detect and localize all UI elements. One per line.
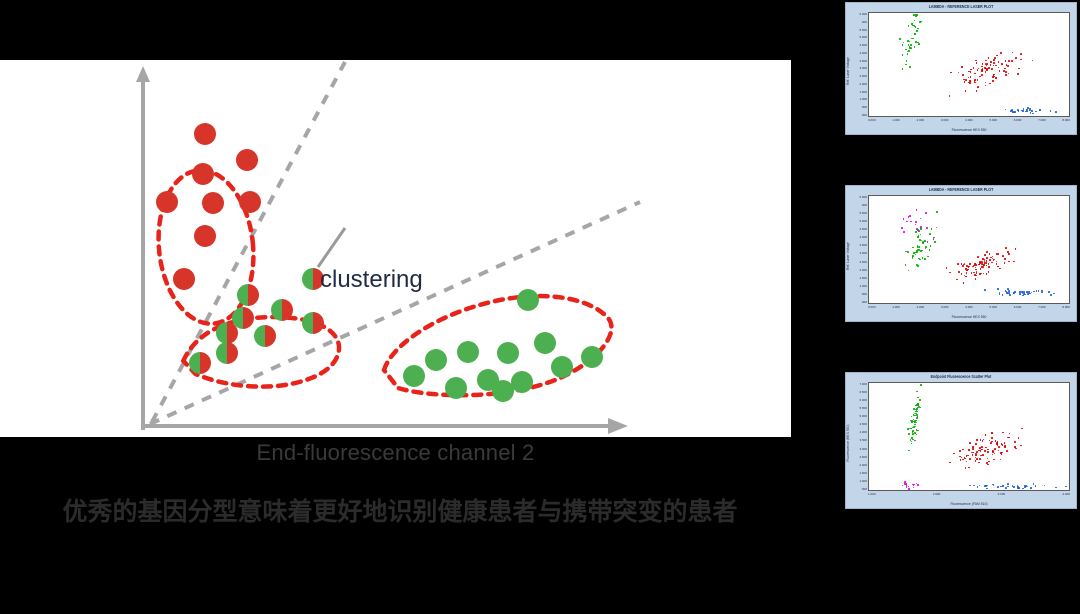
thumbnail-data-point: [1008, 60, 1010, 62]
thumbnail-data-point: [1004, 446, 1006, 448]
thumbnail-data-point: [925, 248, 927, 250]
thumbnail-data-point: [917, 265, 919, 267]
thumbnail-data-point: [1035, 485, 1037, 487]
thumbnail-data-point: [907, 251, 909, 253]
thumbnail-data-point: [975, 278, 977, 280]
thumbnail-data-point: [966, 461, 968, 463]
tick-label: 1.000: [868, 492, 876, 498]
thumbnail-data-point: [1005, 71, 1007, 73]
thumbnail-data-point: [1002, 255, 1004, 257]
thumbnail-data-point: [949, 95, 951, 97]
tick-label: 4.500: [859, 43, 867, 47]
thumbnail-data-point: [927, 256, 929, 258]
tick-label: 7.000: [859, 382, 867, 386]
data-point: [236, 149, 258, 171]
thumbnail-data-point: [984, 289, 986, 291]
data-point: [492, 380, 514, 402]
thumbnail-data-point: [971, 272, 973, 274]
clustering-annotation-label: clustering: [320, 266, 423, 294]
thumbnail-data-point: [905, 64, 907, 66]
thumbnail-y-axis-label: Ref. Laser Voltage: [846, 242, 850, 270]
thumbnail-data-point: [991, 432, 993, 434]
thumbnail-data-point: [982, 440, 984, 442]
tick-label: 1.000: [859, 97, 867, 101]
thumbnail-data-point: [977, 256, 979, 258]
thumbnail-data-point: [967, 269, 969, 271]
data-point: [216, 322, 238, 344]
tick-label: 8.000: [1062, 118, 1070, 124]
tick-label: 5.500: [859, 28, 867, 32]
thumbnail-data-point: [986, 69, 988, 71]
thumbnail-data-point: [993, 459, 995, 461]
thumbnail-data-point: [999, 293, 1001, 295]
thumbnail-data-point: [993, 485, 995, 487]
thumbnail-data-point: [969, 485, 971, 487]
thumbnail-data-point: [963, 282, 965, 284]
tick-label: 3.000: [998, 492, 1006, 498]
tick-label: 6.000: [859, 398, 867, 402]
data-point: [497, 342, 519, 364]
thumbnail-data-point: [912, 430, 914, 432]
thumbnail-data-point: [965, 276, 967, 278]
thumbnail-data-point: [969, 442, 971, 444]
thumbnail-data-point: [1031, 110, 1033, 112]
thumbnail-data-point: [1009, 433, 1011, 435]
thumbnail-data-point: [984, 67, 986, 69]
thumbnail-data-point: [933, 238, 935, 240]
thumbnail-lambda-reference-laser-plot-2[interactable]: LAMBDA - REFERENCE LASER PLOT Ref. Laser…: [845, 185, 1077, 322]
thumbnail-data-point: [968, 449, 970, 451]
tick-label: 3.500: [859, 438, 867, 442]
thumbnail-data-point: [962, 459, 964, 461]
thumbnail-data-point: [913, 487, 915, 489]
thumbnail-data-point: [919, 399, 921, 401]
tick-label: 2.500: [859, 74, 867, 78]
thumbnail-data-point: [913, 408, 915, 410]
thumbnail-data-point: [996, 263, 998, 265]
thumbnail-data-point: [988, 57, 990, 59]
thumbnail-data-point: [1012, 52, 1014, 54]
thumbnail-data-point: [1009, 292, 1011, 294]
thumbnail-data-point: [980, 268, 982, 270]
thumbnail-data-point: [1032, 60, 1034, 62]
thumbnail-data-point: [972, 452, 974, 454]
thumbnail-data-point: [906, 60, 908, 62]
thumbnail-data-point: [974, 73, 976, 75]
tick-label: 4.500: [859, 422, 867, 426]
thumbnail-data-point: [1031, 292, 1033, 294]
thumbnail-data-point: [912, 38, 914, 40]
thumbnail-data-point: [986, 257, 988, 259]
data-point: [445, 377, 467, 399]
data-point: [534, 332, 556, 354]
thumbnail-data-point: [914, 20, 916, 22]
thumbnail-data-point: [964, 81, 966, 83]
thumbnail-data-point: [962, 265, 964, 267]
thumbnail-data-point: [930, 245, 932, 247]
thumbnail-data-point: [911, 23, 913, 25]
thumbnail-data-point: [1005, 290, 1007, 292]
thumbnail-data-point: [976, 451, 978, 453]
data-point: [202, 192, 224, 214]
thumbnail-data-point: [1022, 110, 1024, 112]
thumbnail-title: LAMBDA - REFERENCE LASER PLOT: [846, 188, 1076, 193]
thumbnail-data-point: [1055, 111, 1057, 113]
tick-label: 6.500: [859, 390, 867, 394]
thumbnail-data-point: [994, 57, 996, 59]
thumbnail-data-point: [1007, 483, 1009, 485]
tick-label: .500: [861, 292, 867, 296]
tick-label: 2.000: [859, 268, 867, 272]
tick-label: 7.000: [1038, 118, 1046, 124]
thumbnail-data-point: [909, 66, 911, 68]
upper-separator-line: [152, 62, 345, 422]
thumbnail-data-point: [918, 235, 920, 237]
thumbnail-data-point: [963, 264, 965, 266]
thumbnail-data-point: [986, 273, 988, 275]
data-point: [551, 356, 573, 378]
data-point: [216, 342, 238, 364]
data-point: [302, 312, 324, 334]
thumbnail-data-point: [961, 273, 963, 275]
tick-label: 1.500: [859, 90, 867, 94]
thumbnail-data-point: [905, 264, 907, 266]
thumbnail-data-point: [972, 446, 974, 448]
thumbnail-data-point: [989, 253, 991, 255]
thumbnail-data-point: [906, 221, 908, 223]
slide-subtitle-chinese: 优秀的基因分型意味着更好地识别健康患者与携带突变的患者: [0, 492, 800, 528]
thumbnail-title: LAMBDA - REFERENCE LASER PLOT: [846, 5, 1076, 10]
thumbnail-data-point: [910, 428, 912, 430]
data-point: [517, 289, 539, 311]
thumbnail-data-point: [988, 461, 990, 463]
thumbnail-data-point: [907, 53, 909, 55]
thumbnail-data-point: [1018, 68, 1020, 70]
thumbnail-data-point: [992, 81, 994, 83]
tick-label: 1.000: [892, 118, 900, 124]
thumbnail-data-point: [991, 68, 993, 70]
thumbnail-data-point: [1007, 486, 1009, 488]
thumbnail-data-point: [974, 274, 976, 276]
data-point: [425, 349, 447, 371]
thumbnail-data-point: [907, 428, 909, 430]
data-point: [156, 191, 178, 213]
thumbnail-data-point: [982, 266, 984, 268]
thumbnail-data-point: [985, 63, 987, 65]
thumbnail-data-point: [983, 273, 985, 275]
thumbnail-data-point: [1048, 291, 1050, 293]
thumbnail-data-point: [915, 426, 917, 428]
thumbnail-data-point: [912, 258, 914, 260]
data-point: [457, 341, 479, 363]
thumbnail-data-point: [910, 44, 912, 46]
lower-separator-line: [150, 202, 640, 424]
tick-label: .500: [861, 105, 867, 109]
thumbnail-data-point: [911, 421, 913, 423]
thumbnail-data-point: [1005, 487, 1007, 489]
thumbnail-data-point: [998, 446, 1000, 448]
thumbnail-data-point: [972, 454, 974, 456]
thumbnail-data-point: [1009, 294, 1011, 296]
genotyping-cluster-plot: [0, 60, 791, 437]
thumbnail-data-point: [927, 241, 929, 243]
thumbnail-data-point: [916, 31, 918, 33]
thumbnail-data-point: [903, 231, 905, 233]
thumbnail-data-point: [1002, 294, 1004, 296]
thumbnail-data-point: [909, 215, 911, 217]
thumbnail-data-point: [962, 74, 964, 76]
thumbnail-data-point: [1050, 294, 1052, 296]
tick-label: 6.000: [859, 195, 867, 199]
thumbnail-data-point: [1003, 485, 1005, 487]
thumbnail-data-point: [920, 250, 922, 252]
data-point: [254, 325, 276, 347]
tick-label: 2.000: [917, 118, 925, 124]
thumbnail-data-point: [924, 241, 926, 243]
thumbnail-data-point: [929, 249, 931, 251]
thumbnail-data-point: [922, 241, 924, 243]
thumbnail-data-point: [987, 458, 989, 460]
thumbnail-data-point: [990, 442, 992, 444]
thumbnail-data-point: [918, 246, 920, 248]
thumbnail-data-point: [967, 455, 969, 457]
thumbnail-data-point: [1008, 437, 1010, 439]
thumbnail-data-point: [984, 450, 986, 452]
tick-label: 2.500: [859, 455, 867, 459]
thumbnail-title: Endpoint Fluorescence Scatter Plot: [846, 375, 1076, 380]
thumbnail-data-point: [902, 54, 904, 56]
thumbnail-data-point: [970, 71, 972, 73]
thumbnail-data-point: [989, 83, 991, 85]
thumbnail-x-axis-label: Fluorescence HEX 550: [868, 128, 1070, 133]
thumbnail-data-point: [985, 82, 987, 84]
thumbnail-data-point: [1017, 486, 1019, 488]
thumbnail-data-point: [995, 77, 997, 79]
tick-label: 5.500: [859, 211, 867, 215]
thumbnail-data-point: [977, 86, 979, 88]
thumbnail-data-point: [996, 443, 998, 445]
thumbnail-data-point: [996, 55, 998, 57]
thumbnail-data-point: [1033, 291, 1035, 293]
thumbnail-data-point: [1021, 428, 1023, 430]
thumbnail-data-point: [1018, 437, 1020, 439]
tick-label: 8.000: [1062, 305, 1070, 311]
thumbnail-data-point: [998, 67, 1000, 69]
thumbnail-data-point: [966, 272, 968, 274]
thumbnail-data-point: [1024, 485, 1026, 487]
tick-label: 1.000: [859, 284, 867, 288]
thumbnail-data-point: [977, 79, 979, 81]
thumbnail-data-point: [914, 33, 916, 35]
thumbnail-data-point: [1004, 258, 1006, 260]
thumbnail-data-point: [970, 69, 972, 71]
tick-label: 4.000: [965, 118, 973, 124]
thumbnail-data-point: [916, 264, 918, 266]
thumbnail-data-point: [916, 209, 918, 211]
thumbnail-data-point: [1008, 253, 1010, 255]
thumbnail-data-point: [994, 448, 996, 450]
tick-label: 5.500: [859, 406, 867, 410]
thumbnail-data-point: [982, 258, 984, 260]
tick-label: 4.000: [859, 51, 867, 55]
thumbnail-data-point: [973, 272, 975, 274]
thumbnail-plot-canvas: [868, 12, 1070, 117]
thumbnail-data-point: [1019, 291, 1021, 293]
thumbnail-data-point: [1018, 110, 1020, 112]
thumbnail-data-point: [981, 261, 983, 263]
thumbnail-data-point: [977, 486, 979, 488]
thumbnail-plot-canvas: [868, 195, 1070, 304]
thumbnail-plot-canvas: [868, 382, 1070, 491]
thumbnail-data-point: [917, 430, 919, 432]
thumbnail-data-point: [914, 415, 916, 417]
thumbnail-data-point: [976, 90, 978, 92]
thumbnail-lambda-reference-laser-plot-1[interactable]: LAMBDA - REFERENCE LASER PLOT Ref. Laser…: [845, 2, 1077, 135]
thumbnail-data-point: [915, 16, 917, 18]
thumbnail-data-point: [911, 437, 913, 439]
thumbnail-data-point: [969, 263, 971, 265]
thumbnail-data-point: [961, 457, 963, 459]
thumbnail-data-point: [1004, 68, 1006, 70]
thumbnail-data-point: [997, 288, 999, 290]
data-point: [511, 371, 533, 393]
thumbnail-data-point: [920, 228, 922, 230]
thumbnail-data-point: [1026, 291, 1028, 293]
tick-label: 2.000: [917, 305, 925, 311]
thumbnail-data-point: [915, 224, 917, 226]
thumbnail-data-point: [1041, 290, 1043, 292]
thumbnail-data-point: [914, 420, 916, 422]
tick-label: 1.500: [859, 471, 867, 475]
thumbnail-data-point: [915, 41, 917, 43]
thumbnail-data-point: [994, 453, 996, 455]
thumbnail-data-point: [987, 451, 989, 453]
thumbnail-data-point: [970, 80, 972, 82]
thumbnail-data-point: [1008, 73, 1010, 75]
thumbnail-y-ticks: 7.0006.5006.0005.5005.0004.5004.0003.500…: [854, 382, 867, 491]
thumbnail-data-point: [1007, 292, 1009, 294]
tick-label: 5.000: [859, 219, 867, 223]
thumbnail-data-point: [988, 263, 990, 265]
thumbnail-data-point: [984, 485, 986, 487]
tick-label: 6.000: [1014, 118, 1022, 124]
thumbnail-data-point: [1019, 488, 1021, 490]
thumbnail-data-point: [915, 254, 917, 256]
thumbnail-data-point: [917, 229, 919, 231]
thumbnail-data-point: [1007, 65, 1009, 67]
thumbnail-data-point: [978, 462, 980, 464]
thumbnail-data-point: [975, 267, 977, 269]
thumbnail-data-point: [1013, 261, 1015, 263]
thumbnail-data-point: [981, 446, 983, 448]
thumbnail-data-point: [917, 397, 919, 399]
tick-label: 5.000: [859, 35, 867, 39]
thumbnail-data-point: [998, 61, 1000, 63]
thumbnail-data-point: [1000, 459, 1002, 461]
thumbnail-data-point: [981, 74, 983, 76]
thumbnail-data-point: [972, 448, 974, 450]
thumbnail-data-point: [968, 467, 970, 469]
thumbnail-data-point: [915, 221, 917, 223]
thumbnail-data-point: [902, 68, 904, 70]
data-point: [239, 191, 261, 213]
thumbnail-data-point: [990, 61, 992, 63]
thumbnail-data-point: [986, 265, 988, 267]
data-point: [581, 346, 603, 368]
thumbnail-data-point: [975, 443, 977, 445]
thumbnail-data-point: [1055, 487, 1057, 489]
tick-label: 5.000: [859, 414, 867, 418]
thumbnail-data-point: [980, 450, 982, 452]
thumbnail-data-point: [903, 218, 905, 220]
data-point: [232, 307, 254, 329]
tick-label: 6.000: [1014, 305, 1022, 311]
tick-label: 2.000: [859, 463, 867, 467]
tick-label: 0.000: [868, 305, 876, 311]
tick-label: 4.000: [859, 430, 867, 434]
thumbnail-data-point: [919, 407, 921, 409]
tick-label: 1.000: [892, 305, 900, 311]
thumbnail-data-point: [921, 250, 923, 252]
thumbnail-data-point: [1035, 111, 1037, 113]
thumbnail-data-point: [903, 42, 905, 44]
thumbnail-data-point: [934, 241, 936, 243]
thumbnail-y-axis-label: Ref. Laser Voltage: [846, 57, 850, 85]
thumbnail-data-point: [1036, 290, 1038, 292]
thumbnail-data-point: [965, 79, 967, 81]
thumbnail-data-point: [901, 227, 903, 229]
data-point: [173, 268, 195, 290]
thumbnail-data-point: [914, 46, 916, 48]
tick-label: .000: [861, 203, 867, 207]
data-point: [192, 163, 214, 185]
thumbnail-data-point: [993, 76, 995, 78]
thumbnail-data-point: [1004, 442, 1006, 444]
thumbnail-data-point: [914, 432, 916, 434]
thumbnail-data-point: [916, 434, 918, 436]
thumbnail-data-point: [931, 228, 933, 230]
tick-label: 5.000: [989, 118, 997, 124]
thumbnail-data-point: [1017, 73, 1019, 75]
thumbnail-data-point: [998, 450, 1000, 452]
thumbnail-endpoint-fluorescence-scatter-plot[interactable]: Endpoint Fluorescence Scatter Plot Fluor…: [845, 372, 1077, 509]
thumbnail-data-point: [970, 76, 972, 78]
points-cluster-heterozygous: [189, 268, 324, 374]
thumbnail-data-point: [1030, 487, 1032, 489]
thumbnail-data-point: [975, 60, 977, 62]
thumbnail-data-point: [1020, 59, 1022, 61]
tick-label: 3.000: [941, 305, 949, 311]
data-point: [194, 225, 216, 247]
thumbnail-data-point: [1015, 57, 1017, 59]
thumbnail-data-point: [997, 253, 999, 255]
thumbnail-data-point: [908, 488, 910, 490]
thumbnail-data-point: [1019, 293, 1021, 295]
thumbnail-data-point: [1023, 108, 1025, 110]
thumbnail-data-point: [1014, 441, 1016, 443]
thumbnail-data-point: [1008, 261, 1010, 263]
thumbnail-data-point: [1044, 485, 1046, 487]
thumbnail-data-point: [961, 66, 963, 68]
thumbnail-data-point: [950, 72, 952, 74]
thumbnail-data-point: [936, 211, 938, 213]
thumbnail-data-point: [916, 250, 918, 252]
thumbnail-data-point: [1015, 248, 1017, 250]
tick-label: 1.000: [859, 479, 867, 483]
thumbnail-data-point: [907, 40, 909, 42]
thumbnail-data-point: [915, 26, 917, 28]
thumbnail-x-ticks: 0.0001.0002.0003.0004.0005.0006.0007.000…: [868, 305, 1070, 311]
